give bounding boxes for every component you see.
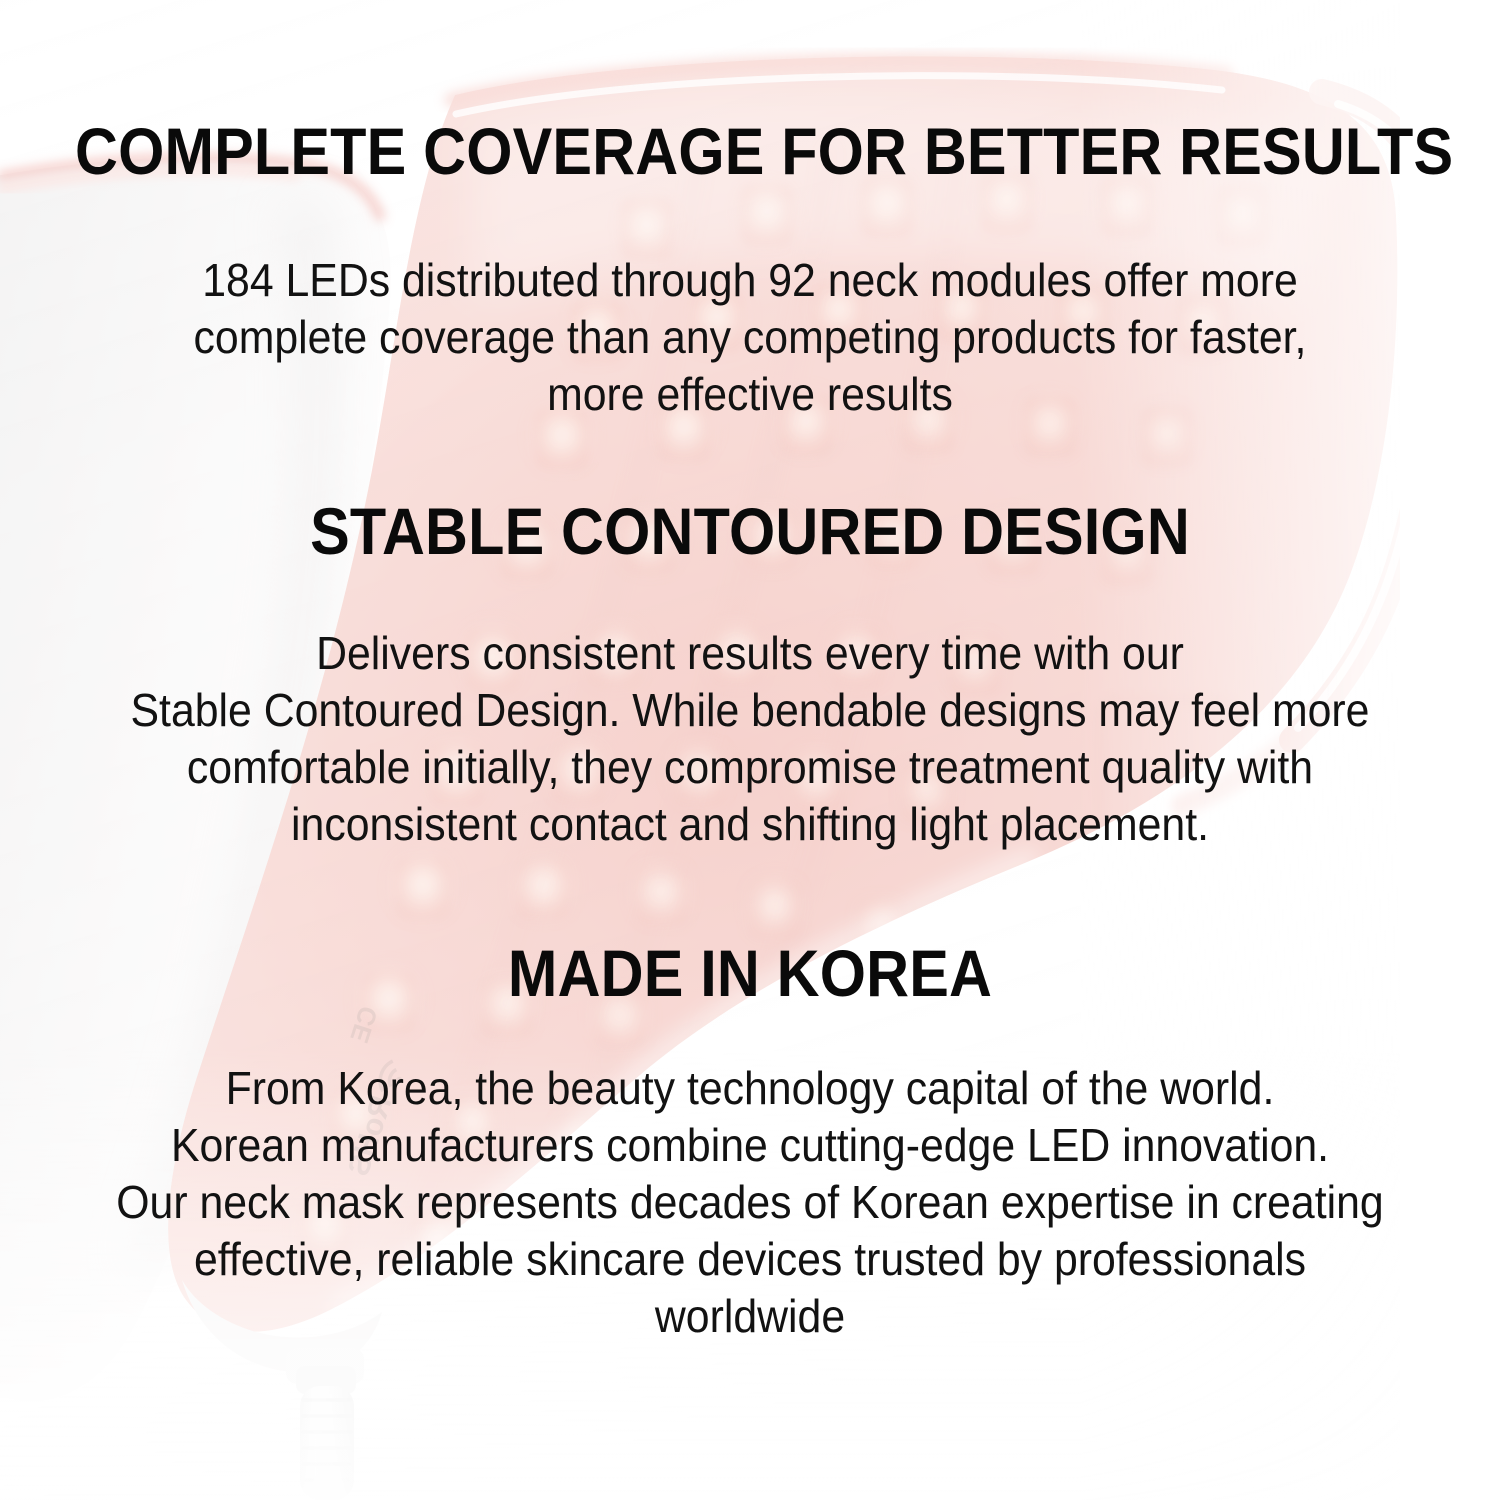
body-stable-contoured-design: Delivers consistent results every time w… xyxy=(53,625,1448,853)
body-made-in-korea: From Korea, the beauty technology capita… xyxy=(53,1060,1448,1345)
heading-complete-coverage: COMPLETE COVERAGE FOR BETTER RESULTS xyxy=(75,118,1425,184)
product-feature-graphic: RoHS CE xyxy=(0,0,1500,1500)
section-korea-heading-wrap: MADE IN KOREA xyxy=(0,940,1500,1006)
body-complete-coverage: 184 LEDs distributed through 92 neck mod… xyxy=(53,252,1448,423)
section-design-body-wrap: Delivers consistent results every time w… xyxy=(0,625,1500,853)
section-coverage-body-wrap: 184 LEDs distributed through 92 neck mod… xyxy=(0,252,1500,423)
heading-made-in-korea: MADE IN KOREA xyxy=(75,940,1425,1006)
section-coverage-heading-wrap: COMPLETE COVERAGE FOR BETTER RESULTS xyxy=(0,118,1500,184)
section-korea-body-wrap: From Korea, the beauty technology capita… xyxy=(0,1060,1500,1345)
marketing-copy-overlay: COMPLETE COVERAGE FOR BETTER RESULTS 184… xyxy=(0,0,1500,1500)
section-design-heading-wrap: STABLE CONTOURED DESIGN xyxy=(0,498,1500,564)
heading-stable-contoured-design: STABLE CONTOURED DESIGN xyxy=(75,498,1425,564)
